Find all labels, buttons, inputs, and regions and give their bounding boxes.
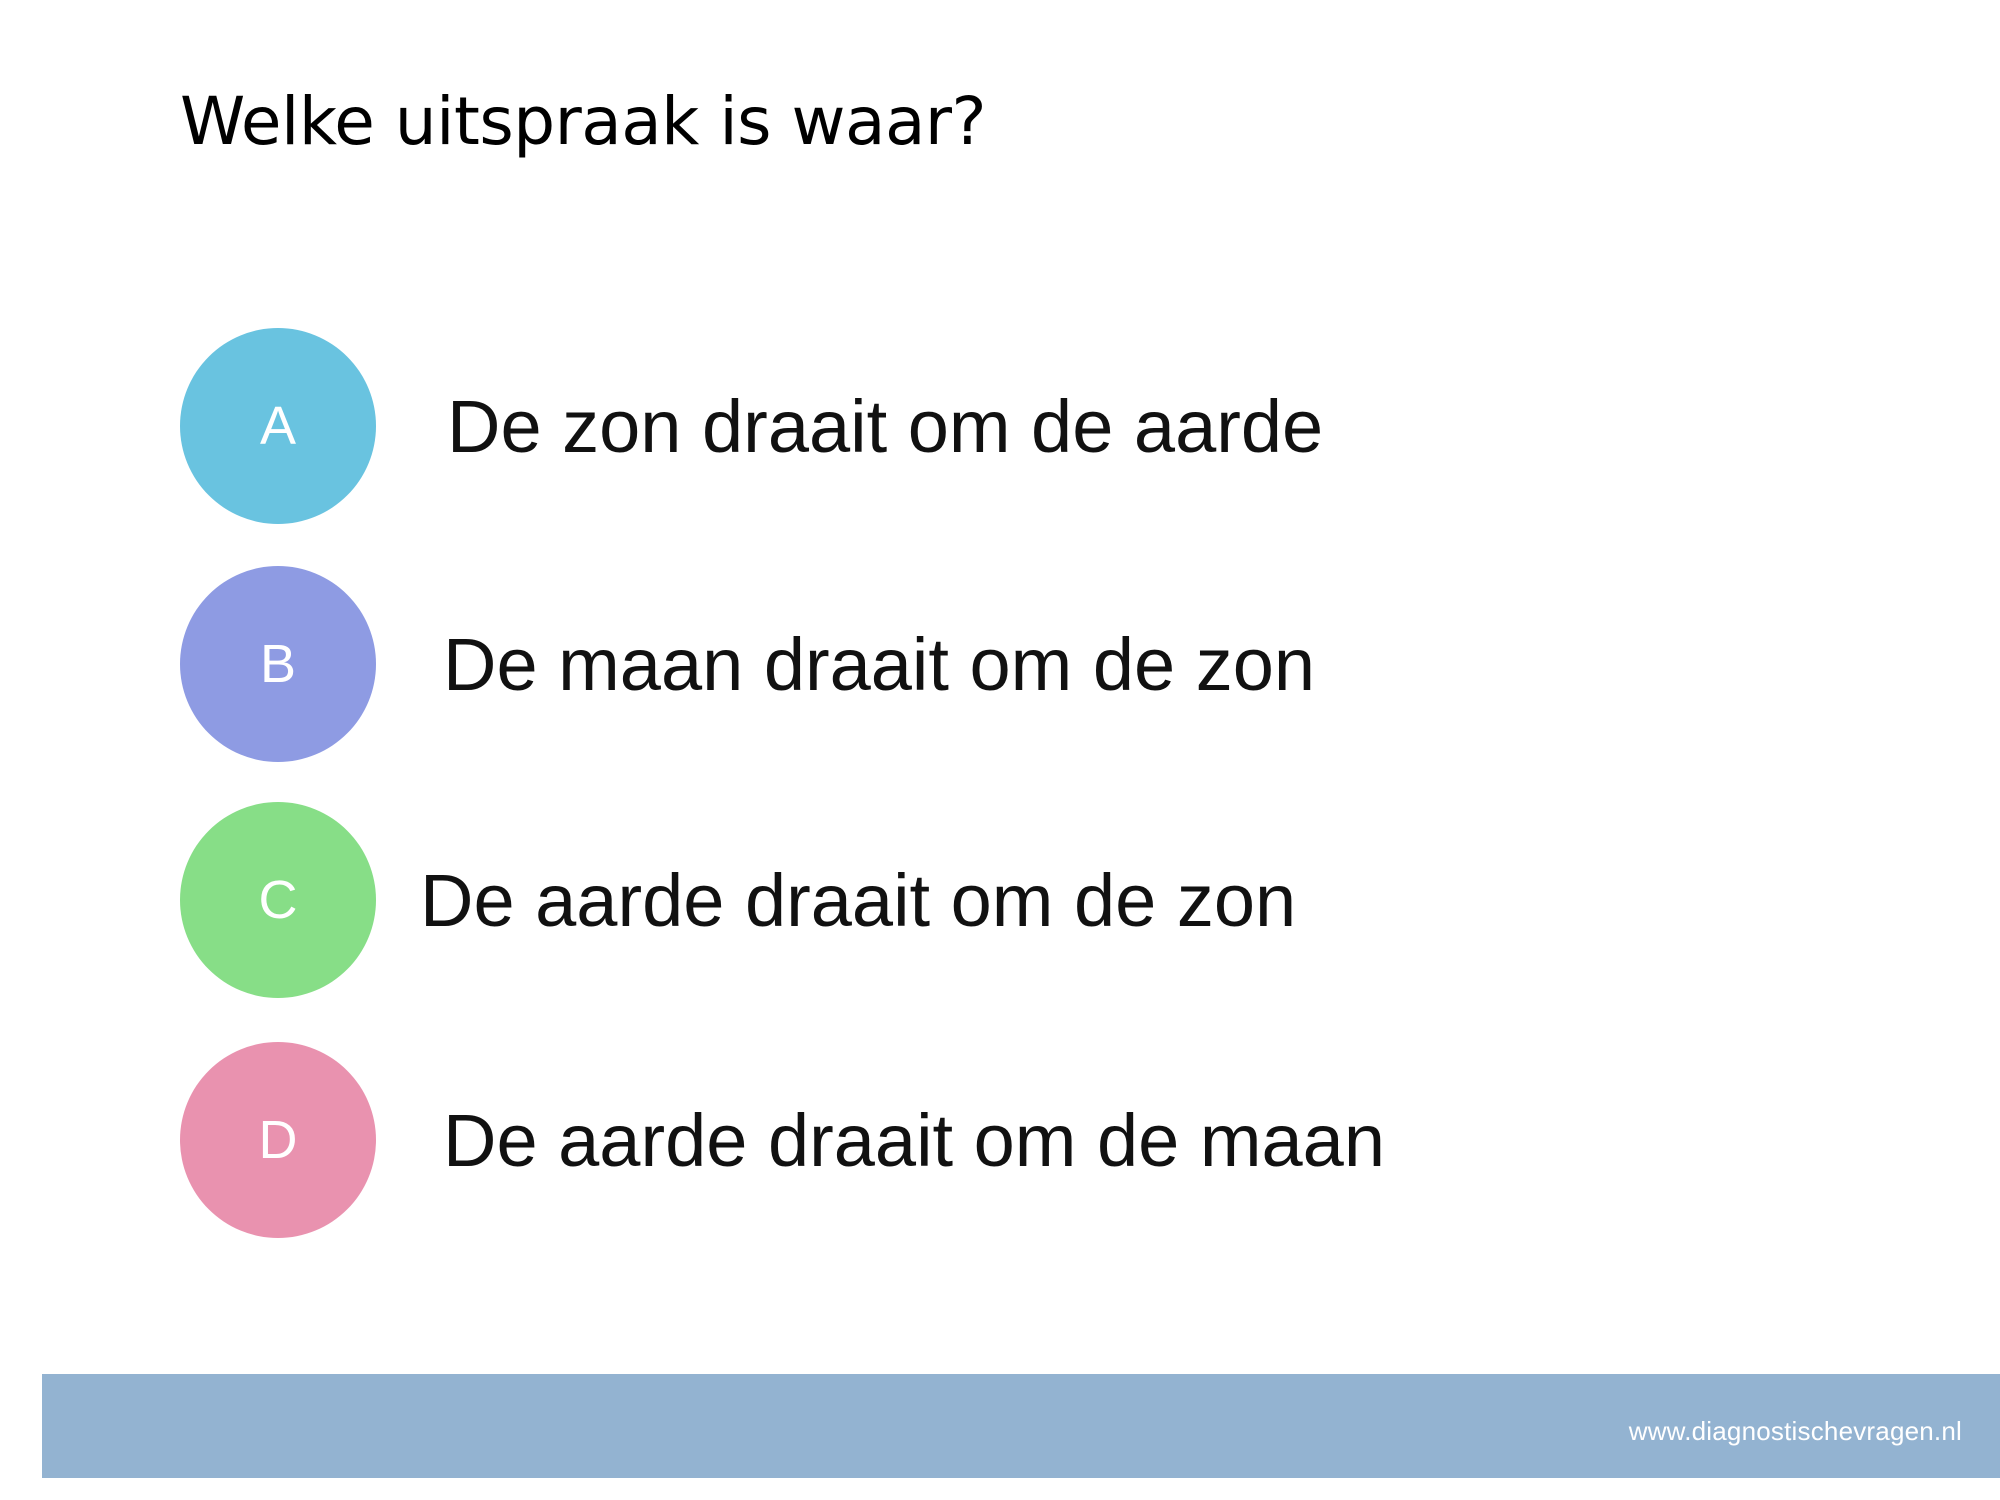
option-text-a: De zon draait om de aarde [447, 390, 1323, 464]
footer-bar: www.diagnostischevragen.nl [42, 1374, 2000, 1478]
option-bullet-b[interactable]: B [180, 566, 376, 762]
footer-website-url[interactable]: www.diagnostischevragen.nl [1629, 1416, 1962, 1447]
page-title: Welke uitspraak is waar? [180, 84, 986, 160]
option-bullet-a[interactable]: A [180, 328, 376, 524]
option-text-c: De aarde draait om de zon [420, 864, 1296, 938]
option-text-d: De aarde draait om de maan [443, 1104, 1385, 1178]
option-bullet-c[interactable]: C [180, 802, 376, 998]
option-text-b: De maan draait om de zon [443, 628, 1315, 702]
slide-canvas: Welke uitspraak is waar? A De zon draait… [0, 0, 2000, 1500]
option-bullet-d[interactable]: D [180, 1042, 376, 1238]
